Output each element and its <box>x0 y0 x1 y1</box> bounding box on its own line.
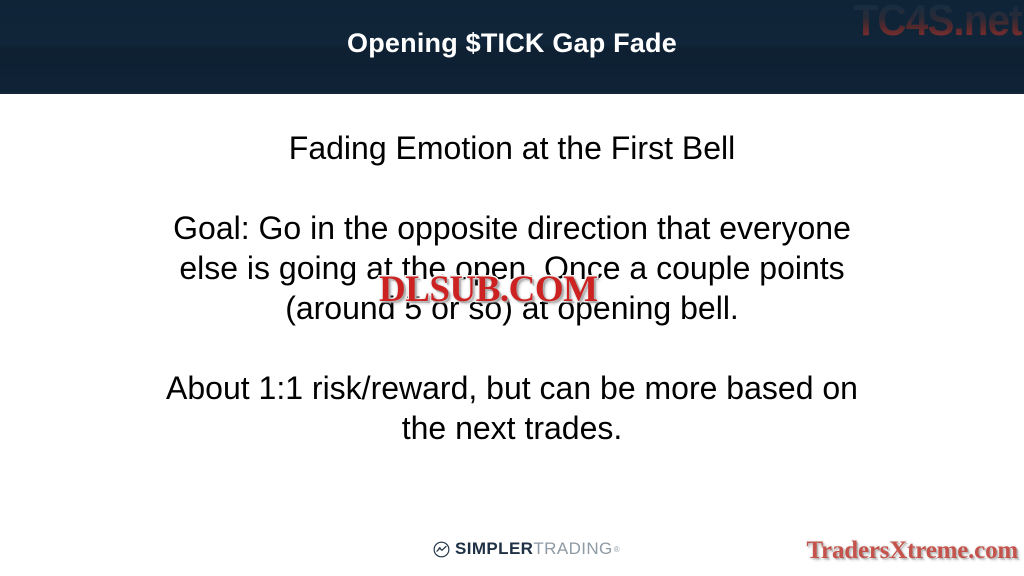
logo-text-trading: TRADING <box>533 539 612 559</box>
chart-line-circle-icon <box>433 541 450 558</box>
logo-text-simpler: SIMPLER <box>455 539 533 559</box>
body-line: Goal: Go in the opposite direction that … <box>62 208 962 248</box>
body-line: About 1:1 risk/reward, but can be more b… <box>62 368 962 408</box>
paragraph-spacer <box>62 168 962 208</box>
simpler-trading-logo: SIMPLER TRADING ® <box>433 537 620 561</box>
tc4s-watermark: TC4S.net <box>854 0 1022 46</box>
registered-trademark-mark: ® <box>614 545 620 554</box>
paragraph-risk-reward: About 1:1 risk/reward, but can be more b… <box>62 368 962 448</box>
paragraph-subtitle: Fading Emotion at the First Bell <box>62 128 962 168</box>
paragraph-spacer <box>62 328 962 368</box>
body-line: the next trades. <box>62 408 962 448</box>
dlsub-watermark: DLSUB.COM <box>379 268 598 311</box>
body-line: Fading Emotion at the First Bell <box>62 128 962 168</box>
presentation-slide: Opening $TICK Gap Fade TC4S.net Fading E… <box>0 0 1024 576</box>
tradersxtreme-watermark: TradersXtreme.com <box>806 537 1018 565</box>
slide-header-bar: Opening $TICK Gap Fade TC4S.net <box>0 0 1024 94</box>
